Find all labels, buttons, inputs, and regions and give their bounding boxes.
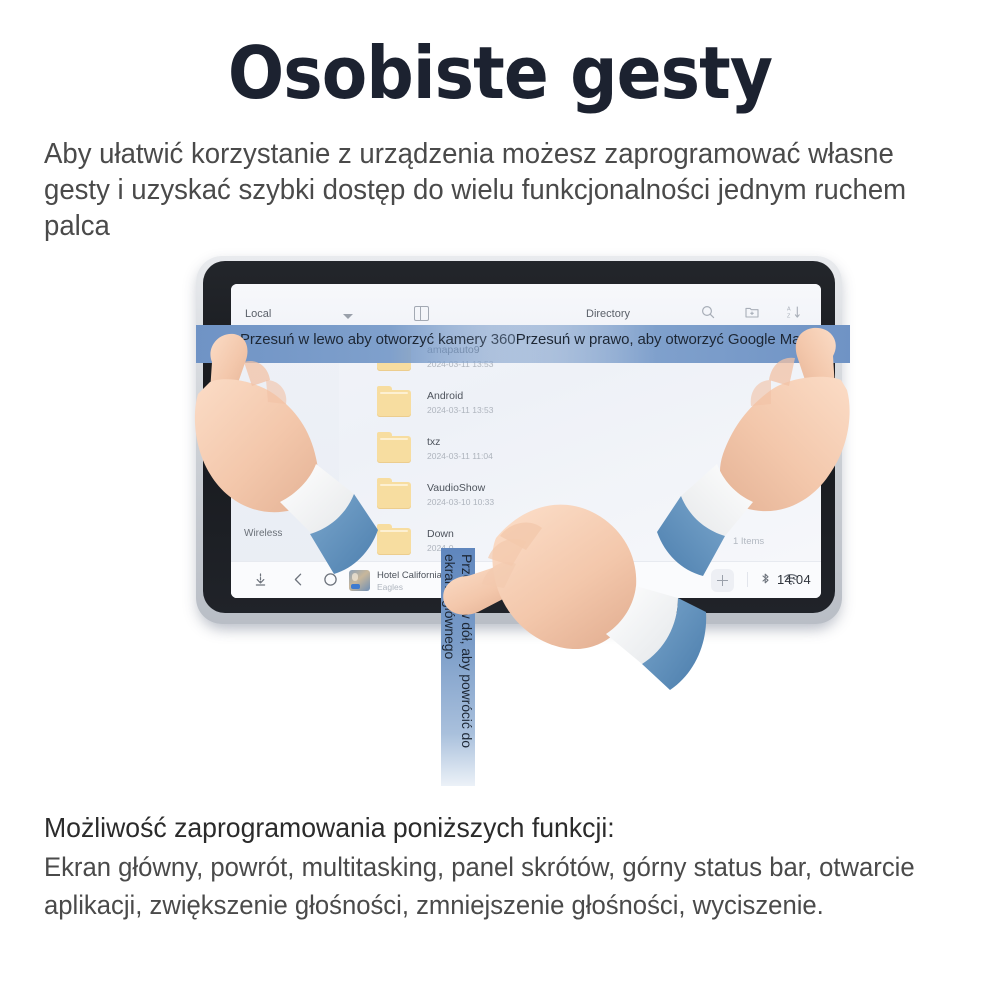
folder-icon bbox=[377, 436, 411, 463]
folder-icon bbox=[377, 528, 411, 555]
intro-paragraph: Aby ułatwić korzystanie z urządzenia moż… bbox=[44, 136, 937, 244]
split-pane-icon[interactable] bbox=[414, 306, 429, 321]
track-artist: Eagles bbox=[377, 582, 403, 592]
directory-label: Directory bbox=[586, 308, 630, 320]
search-icon[interactable] bbox=[701, 305, 715, 319]
folder-icon bbox=[377, 390, 411, 417]
file-name: Android bbox=[427, 390, 463, 402]
page-title: Osobiste gesty bbox=[40, 34, 960, 112]
hand-pointing-down bbox=[438, 492, 708, 732]
footer-block: Możliwość zaprogramowania poniższych fun… bbox=[44, 808, 994, 924]
hand-pointing-left bbox=[188, 318, 378, 588]
file-date: 2024-03-11 11:04 bbox=[427, 451, 493, 461]
footer-heading: Możliwość zaprogramowania poniższych fun… bbox=[44, 808, 947, 848]
track-title: Hotel California bbox=[377, 570, 442, 581]
file-date: 2024-03-11 13:53 bbox=[427, 405, 493, 415]
folder-icon bbox=[377, 482, 411, 509]
new-folder-icon[interactable] bbox=[745, 305, 759, 319]
svg-text:A: A bbox=[787, 307, 791, 313]
footer-body: Ekran główny, powrót, multitasking, pane… bbox=[44, 848, 947, 924]
file-name: txz bbox=[427, 436, 440, 448]
sort-az-icon[interactable]: A Z bbox=[787, 305, 801, 319]
